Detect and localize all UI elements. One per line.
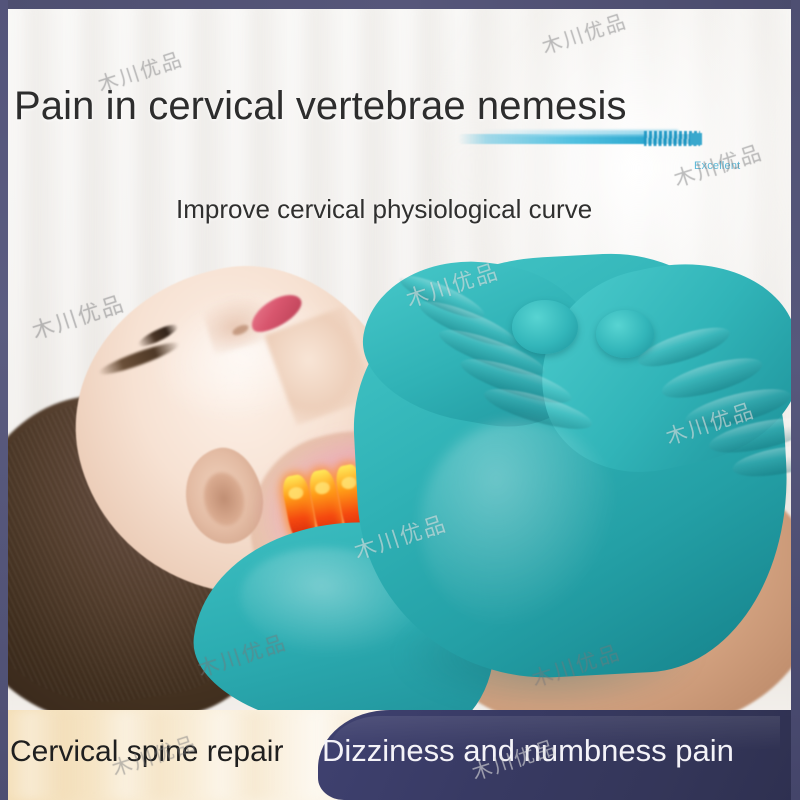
page-title: Pain in cervical vertebrae nemesis <box>14 84 627 129</box>
banner-left-label: Cervical spine repair <box>10 735 283 769</box>
banner-right-label: Dizziness and numbness pain <box>322 733 734 769</box>
frame-border-top <box>0 0 800 9</box>
frame-border-left <box>0 0 8 800</box>
device-bump <box>596 310 654 358</box>
device-bump <box>512 300 578 354</box>
product-poster: Pain in cervical vertebrae nemesis Impro… <box>0 0 800 800</box>
excellent-badge: Excellent <box>694 160 740 172</box>
brush-stroke-accent <box>458 130 694 147</box>
page-subtitle: Improve cervical physiological curve <box>176 194 592 225</box>
device-highlight <box>420 420 620 630</box>
frame-border-right <box>791 0 800 800</box>
brush-stroke-tip <box>690 133 702 145</box>
